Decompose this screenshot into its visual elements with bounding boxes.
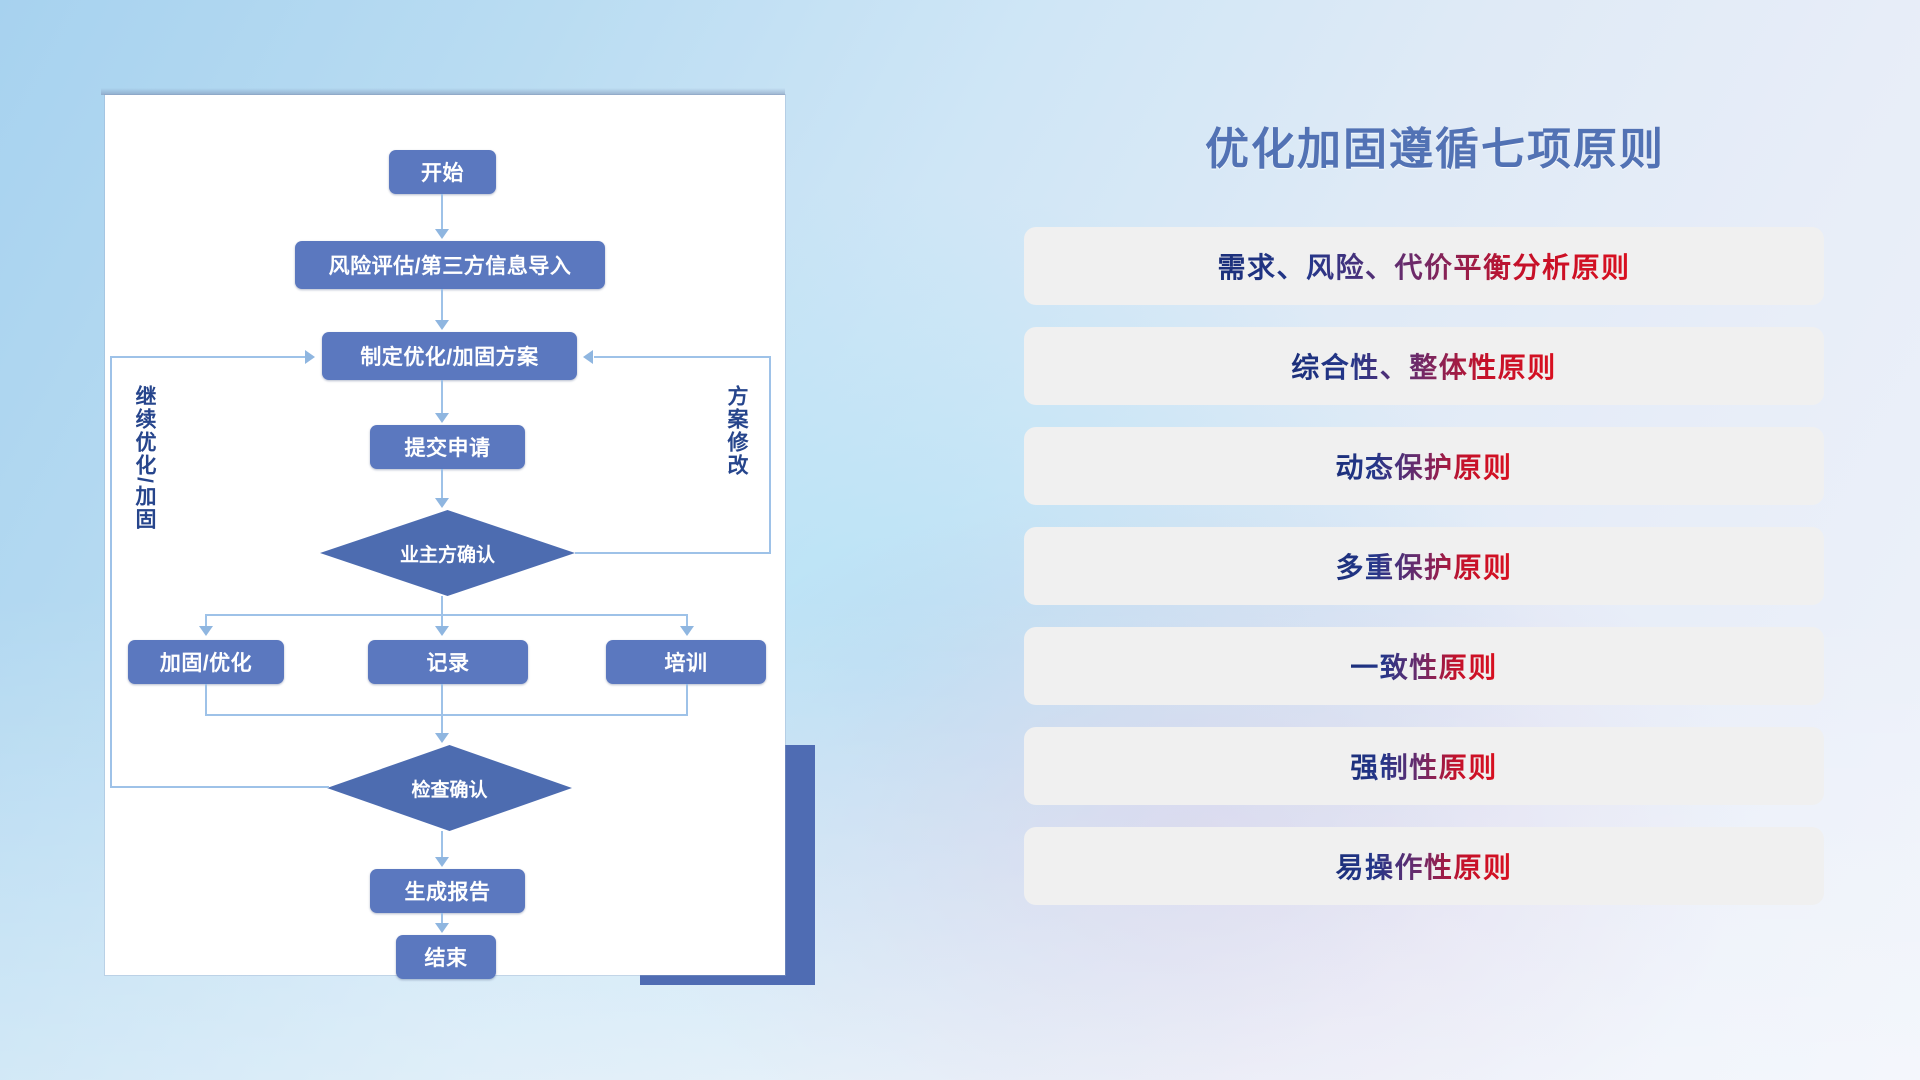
- connector-loop-right-bottom: [575, 552, 771, 554]
- flow-edge-label-right: 方案修改: [725, 385, 747, 535]
- flow-node-label: 开始: [421, 157, 464, 187]
- page-title: 优化加固遵循七项原则: [1020, 113, 1850, 177]
- connector-merge-bar: [205, 714, 688, 716]
- flow-node-label: 风险评估/第三方信息导入: [329, 250, 572, 280]
- principle-item-4[interactable]: 多重保护原则: [1024, 527, 1824, 605]
- arrow-down-icon: [199, 626, 213, 636]
- flow-node-record[interactable]: 记录: [368, 640, 528, 684]
- flowchart-canvas: 开始 风险评估/第三方信息导入 制定优化/加固方案 提交申请 业主方确认 加固/…: [105, 95, 785, 975]
- principle-label: 强制性原则: [1350, 746, 1498, 786]
- principle-item-7[interactable]: 易操作性原则: [1024, 827, 1824, 905]
- arrow-left-icon: [583, 350, 593, 364]
- flow-node-label: 检查确认: [411, 775, 487, 802]
- arrow-down-icon: [435, 229, 449, 239]
- flow-node-label: 生成报告: [405, 876, 491, 906]
- principle-label: 需求、风险、代价平衡分析原则: [1217, 246, 1630, 286]
- flow-node-reinforce[interactable]: 加固/优化: [128, 640, 284, 684]
- connector-loop-left-bottom: [110, 786, 329, 788]
- flow-node-label: 结束: [425, 942, 468, 972]
- connector-loop-left-top: [110, 356, 308, 358]
- arrow-down-icon: [435, 320, 449, 330]
- connector-submit-owner: [441, 469, 443, 500]
- flowchart-card: 开始 风险评估/第三方信息导入 制定优化/加固方案 提交申请 业主方确认 加固/…: [105, 95, 785, 975]
- arrow-down-icon: [435, 626, 449, 636]
- connector-start-risk: [441, 194, 443, 231]
- connector-merge-check: [441, 684, 443, 736]
- principle-label: 综合性、整体性原则: [1291, 346, 1557, 386]
- connector-owner-fanout: [441, 596, 443, 616]
- arrow-down-icon: [435, 413, 449, 423]
- connector-merge-left: [205, 684, 207, 716]
- principle-label: 一致性原则: [1350, 646, 1498, 686]
- principles-panel: 优化加固遵循七项原则 需求、风险、代价平衡分析原则 综合性、整体性原则 动态保护…: [1020, 95, 1850, 995]
- flow-edge-label-left: 继续优化/加固: [133, 385, 155, 575]
- flow-node-label: 制定优化/加固方案: [360, 341, 538, 371]
- principle-item-3[interactable]: 动态保护原则: [1024, 427, 1824, 505]
- principle-item-1[interactable]: 需求、风险、代价平衡分析原则: [1024, 227, 1824, 305]
- arrow-down-icon: [435, 733, 449, 743]
- flow-node-end[interactable]: 结束: [396, 935, 496, 979]
- connector-risk-plan: [441, 289, 443, 322]
- flow-node-label: 培训: [665, 647, 708, 677]
- flow-node-label: 业主方确认: [400, 540, 495, 567]
- connector-loop-left-vertical: [110, 356, 112, 788]
- flow-node-label: 提交申请: [405, 432, 491, 462]
- flow-node-start[interactable]: 开始: [389, 150, 496, 194]
- arrow-right-icon: [305, 350, 315, 364]
- flow-node-report[interactable]: 生成报告: [370, 869, 525, 913]
- connector-loop-right-top: [594, 356, 771, 358]
- principle-label: 动态保护原则: [1335, 446, 1512, 486]
- flow-node-submit[interactable]: 提交申请: [370, 425, 525, 469]
- connector-check-report: [441, 831, 443, 859]
- principle-item-5[interactable]: 一致性原则: [1024, 627, 1824, 705]
- principle-item-2[interactable]: 综合性、整体性原则: [1024, 327, 1824, 405]
- flow-decision-owner-confirm[interactable]: 业主方确认: [320, 510, 575, 596]
- principles-list: 需求、风险、代价平衡分析原则 综合性、整体性原则 动态保护原则 多重保护原则 一…: [1024, 227, 1824, 927]
- arrow-down-icon: [435, 857, 449, 867]
- principle-item-6[interactable]: 强制性原则: [1024, 727, 1824, 805]
- flow-node-label: 加固/优化: [160, 647, 252, 677]
- principle-label: 易操作性原则: [1335, 846, 1512, 886]
- connector-merge-right: [686, 684, 688, 716]
- arrow-down-icon: [435, 923, 449, 933]
- connector-plan-submit: [441, 380, 443, 415]
- arrow-down-icon: [435, 498, 449, 508]
- connector-fanout-bar: [205, 614, 688, 616]
- flow-node-risk-assessment[interactable]: 风险评估/第三方信息导入: [295, 241, 605, 289]
- connector-loop-right-vertical: [769, 356, 771, 554]
- principle-label: 多重保护原则: [1335, 546, 1512, 586]
- flow-node-training[interactable]: 培训: [606, 640, 766, 684]
- arrow-down-icon: [680, 626, 694, 636]
- flow-decision-check-confirm[interactable]: 检查确认: [327, 745, 572, 831]
- flow-node-plan[interactable]: 制定优化/加固方案: [322, 332, 577, 380]
- flow-node-label: 记录: [427, 647, 470, 677]
